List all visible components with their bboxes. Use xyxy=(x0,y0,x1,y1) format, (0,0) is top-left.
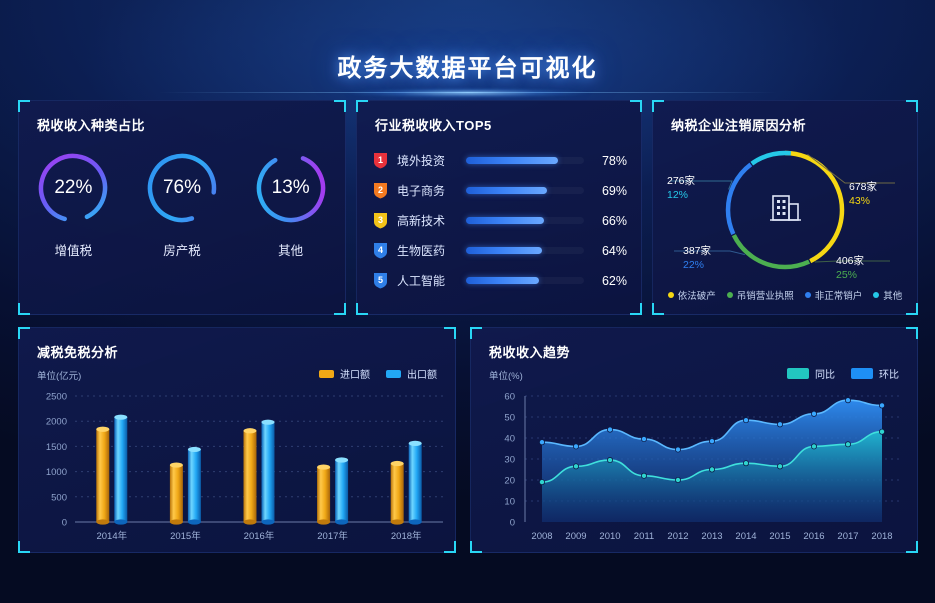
industry-progress-fill xyxy=(466,157,558,164)
area-data-point[interactable] xyxy=(879,429,884,434)
panel-cancel-reason: 纳税企业注销原因分析 678家 43% 406家 25% 387家 22% xyxy=(652,100,918,315)
area-x-tick-label: 2010 xyxy=(599,531,620,542)
donut-legend-label: 其他 xyxy=(883,288,902,302)
bar-column-base xyxy=(96,519,109,524)
bar-column-cap xyxy=(188,447,201,452)
area-data-point[interactable] xyxy=(607,427,612,432)
bar-column[interactable] xyxy=(114,417,127,522)
area-x-tick-label: 2008 xyxy=(531,531,552,542)
corner-bracket-top-right xyxy=(906,100,918,112)
area-x-tick-label: 2011 xyxy=(634,531,654,542)
area-data-point[interactable] xyxy=(607,457,612,462)
industry-progress-track xyxy=(466,217,584,224)
bar-column[interactable] xyxy=(96,429,109,522)
corner-bracket-top-left xyxy=(356,100,368,112)
gauge-group: 22% 增值税 76% xyxy=(19,149,345,259)
rank-number: 2 xyxy=(378,185,383,195)
gauge-vat[interactable]: 22% 增值税 xyxy=(25,149,121,259)
panel-title-tax-share: 税收收入种类占比 xyxy=(37,115,145,134)
bar-y-tick-label: 2500 xyxy=(46,392,67,403)
bar-column-base xyxy=(244,519,257,524)
area-x-tick-label: 2012 xyxy=(667,531,688,542)
rank-badge-icon: 2 xyxy=(373,182,388,199)
industry-rank-row[interactable]: 2电子商务69% xyxy=(373,176,627,205)
area-x-tick-label: 2014 xyxy=(735,531,756,542)
industry-percent-value: 66% xyxy=(593,214,627,228)
area-data-point[interactable] xyxy=(777,464,782,469)
area-data-point[interactable] xyxy=(709,439,714,444)
area-data-point[interactable] xyxy=(811,444,816,449)
industry-progress-track xyxy=(466,157,584,164)
corner-bracket-top-right xyxy=(334,100,346,112)
industry-percent-value: 64% xyxy=(593,244,627,258)
rank-badge-icon: 3 xyxy=(373,212,388,229)
donut-label-bankruptcy: 678家 43% xyxy=(849,179,877,207)
rank-number: 5 xyxy=(378,275,383,285)
bar-x-tick-label: 2014年 xyxy=(96,530,127,542)
bar-x-tick-label: 2016年 xyxy=(244,530,275,542)
industry-progress-fill xyxy=(466,187,547,194)
area-x-tick-label: 2017 xyxy=(837,531,858,542)
bar-column-cap xyxy=(317,464,330,469)
donut-legend-dot xyxy=(873,292,879,298)
industry-progress-fill xyxy=(466,217,544,224)
area-data-point[interactable] xyxy=(845,398,850,403)
corner-bracket-bottom-left xyxy=(356,303,368,315)
bar-column[interactable] xyxy=(391,464,404,522)
donut-legend-label: 非正常销户 xyxy=(815,288,863,302)
bar-column-base xyxy=(262,519,275,524)
bar-column-base xyxy=(188,519,201,524)
industry-progress-track xyxy=(466,187,584,194)
bar-column[interactable] xyxy=(244,431,257,522)
industry-name: 生物医药 xyxy=(397,242,457,259)
area-y-tick-label: 0 xyxy=(510,518,515,529)
donut-legend-dot xyxy=(805,292,811,298)
industry-rank-list: 1境外投资78%2电子商务69%3高新技术66%4生物医药64%5人工智能62% xyxy=(373,146,627,296)
bar-column[interactable] xyxy=(262,422,275,522)
corner-bracket-bottom-right xyxy=(630,303,642,315)
panel-industry-top5: 行业税收收入TOP5 1境外投资78%2电子商务69%3高新技术66%4生物医药… xyxy=(356,100,642,315)
industry-progress-track xyxy=(466,247,584,254)
industry-name: 电子商务 xyxy=(397,182,457,199)
donut-label-license-revoked: 406家 25% xyxy=(836,253,864,281)
area-x-tick-label: 2009 xyxy=(565,531,586,542)
gauge-label-property-tax: 房产税 xyxy=(134,240,230,259)
bar-y-tick-label: 500 xyxy=(51,492,67,503)
corner-bracket-bottom-right xyxy=(334,303,346,315)
gauge-ring-vat: 22% xyxy=(34,149,112,227)
bar-column[interactable] xyxy=(170,465,183,522)
industry-rank-row[interactable]: 1境外投资78% xyxy=(373,146,627,175)
industry-percent-value: 78% xyxy=(593,154,627,168)
bar-column[interactable] xyxy=(409,443,422,522)
bar-column-cap xyxy=(114,415,127,420)
area-y-tick-label: 30 xyxy=(504,455,515,466)
industry-rank-row[interactable]: 3高新技术66% xyxy=(373,206,627,235)
industry-name: 境外投资 xyxy=(397,152,457,169)
bar-y-tick-label: 0 xyxy=(62,518,67,529)
area-data-point[interactable] xyxy=(743,418,748,423)
corner-bracket-top-right xyxy=(630,100,642,112)
page-title: 政务大数据平台可视化 xyxy=(0,48,935,83)
gauge-ring-other: 13% xyxy=(252,149,330,227)
corner-bracket-bottom-left xyxy=(652,303,664,315)
donut-legend-item[interactable]: 非正常销户 xyxy=(805,288,863,302)
area-x-tick-label: 2016 xyxy=(803,531,824,542)
donut-label-abnormal-deregistration: 387家 22% xyxy=(683,243,711,271)
gauge-other[interactable]: 13% 其他 xyxy=(243,149,339,259)
industry-progress-track xyxy=(466,277,584,284)
rank-badge-icon: 5 xyxy=(373,272,388,289)
area-data-point[interactable] xyxy=(573,464,578,469)
panel-tax-share: 税收收入种类占比 22% 增值税 xyxy=(18,100,346,315)
gauge-value-vat: 22% xyxy=(34,149,112,227)
rank-badge-icon: 1 xyxy=(373,152,388,169)
area-x-tick-label: 2013 xyxy=(701,531,722,542)
building-icon xyxy=(765,187,805,227)
area-data-point[interactable] xyxy=(777,422,782,427)
bar-y-tick-label: 1000 xyxy=(46,467,67,478)
bar-column-base xyxy=(391,519,404,524)
donut-legend-label: 依法破产 xyxy=(678,288,716,302)
panel-title-cancel-reason: 纳税企业注销原因分析 xyxy=(671,115,806,134)
dashboard-header: 政务大数据平台可视化 xyxy=(0,0,935,96)
bar-y-tick-label: 2000 xyxy=(46,417,67,428)
donut-legend-item[interactable]: 依法破产 xyxy=(668,288,716,302)
area-data-point[interactable] xyxy=(709,467,714,472)
bar-x-tick-label: 2018年 xyxy=(391,530,422,542)
bar-column[interactable] xyxy=(317,467,330,522)
rank-badge-icon: 4 xyxy=(373,242,388,259)
industry-rank-row[interactable]: 5人工智能62% xyxy=(373,266,627,295)
industry-name: 人工智能 xyxy=(397,272,457,289)
area-data-point[interactable] xyxy=(641,436,646,441)
area-x-tick-label: 2018 xyxy=(871,531,892,542)
area-data-point[interactable] xyxy=(845,442,850,447)
donut-legend-dot xyxy=(668,292,674,298)
industry-percent-value: 62% xyxy=(593,274,627,288)
gauge-ring-property-tax: 76% xyxy=(143,149,221,227)
bar-column-cap xyxy=(96,427,109,432)
donut-legend: 依法破产吊销营业执照非正常销户其他 xyxy=(653,288,917,302)
area-y-tick-label: 50 xyxy=(504,413,515,424)
donut-legend-dot xyxy=(727,292,733,298)
area-y-tick-label: 20 xyxy=(504,476,515,487)
gauge-label-vat: 增值税 xyxy=(25,240,121,259)
area-data-point[interactable] xyxy=(539,480,544,485)
bar-column-base xyxy=(335,519,348,524)
gauge-value-other: 13% xyxy=(252,149,330,227)
gauge-value-property-tax: 76% xyxy=(143,149,221,227)
area-x-tick-label: 2015 xyxy=(769,531,790,542)
bar-chart-plot: 050010001500200025002014年2015年2016年2017年… xyxy=(19,328,457,554)
bar-column[interactable] xyxy=(335,460,348,522)
area-y-tick-label: 40 xyxy=(504,434,515,445)
rank-number: 1 xyxy=(378,155,383,165)
donut-label-other: 276家 12% xyxy=(667,173,695,201)
bar-column-cap xyxy=(391,461,404,466)
industry-progress-fill xyxy=(466,277,539,284)
donut-legend-item[interactable]: 吊销营业执照 xyxy=(727,288,794,302)
gauge-property-tax[interactable]: 76% 房产税 xyxy=(134,149,230,259)
rank-number: 4 xyxy=(378,245,383,255)
header-glow xyxy=(348,88,588,98)
area-chart-plot: 0102030405060200820092010201120122013201… xyxy=(471,328,919,554)
area-data-point[interactable] xyxy=(743,461,748,466)
corner-bracket-top-left xyxy=(18,100,30,112)
gauge-label-other: 其他 xyxy=(243,240,339,259)
area-y-tick-label: 60 xyxy=(504,392,515,403)
area-data-point[interactable] xyxy=(573,444,578,449)
bar-column-base xyxy=(317,519,330,524)
corner-bracket-bottom-left xyxy=(18,303,30,315)
bar-column-cap xyxy=(335,457,348,462)
panel-title-industry-top5: 行业税收收入TOP5 xyxy=(375,115,492,134)
rank-number: 3 xyxy=(378,215,383,225)
bar-column-base xyxy=(114,519,127,524)
panel-tax-reduction: 减税免税分析 单位(亿元) 进口额 出口额 050010001500200025… xyxy=(18,327,456,553)
donut-chart-cancel-reason: 678家 43% 406家 25% 387家 22% 276家 12% xyxy=(653,135,917,285)
area-data-point[interactable] xyxy=(641,473,646,478)
corner-bracket-bottom-right xyxy=(906,303,918,315)
area-y-tick-label: 10 xyxy=(504,497,515,508)
area-data-point[interactable] xyxy=(879,403,884,408)
bar-column-cap xyxy=(262,420,275,425)
area-data-point[interactable] xyxy=(675,477,680,482)
bar-column-cap xyxy=(170,462,183,467)
industry-percent-value: 69% xyxy=(593,184,627,198)
bar-column-base xyxy=(170,519,183,524)
donut-legend-item[interactable]: 其他 xyxy=(873,288,902,302)
bar-y-tick-label: 1500 xyxy=(46,442,67,453)
industry-name: 高新技术 xyxy=(397,212,457,229)
area-data-point[interactable] xyxy=(675,447,680,452)
corner-bracket-top-left xyxy=(652,100,664,112)
industry-rank-row[interactable]: 4生物医药64% xyxy=(373,236,627,265)
area-data-point[interactable] xyxy=(539,440,544,445)
donut-legend-label: 吊销营业执照 xyxy=(737,288,794,302)
bar-column-cap xyxy=(244,428,257,433)
bar-column[interactable] xyxy=(188,449,201,522)
bar-x-tick-label: 2015年 xyxy=(170,530,201,542)
area-data-point[interactable] xyxy=(811,411,816,416)
bar-column-cap xyxy=(409,441,422,446)
bar-column-base xyxy=(409,519,422,524)
bar-x-tick-label: 2017年 xyxy=(317,530,348,542)
panel-tax-trend: 税收收入趋势 单位(%) 同比 环比 010203040506020082009… xyxy=(470,327,918,553)
industry-progress-fill xyxy=(466,247,542,254)
